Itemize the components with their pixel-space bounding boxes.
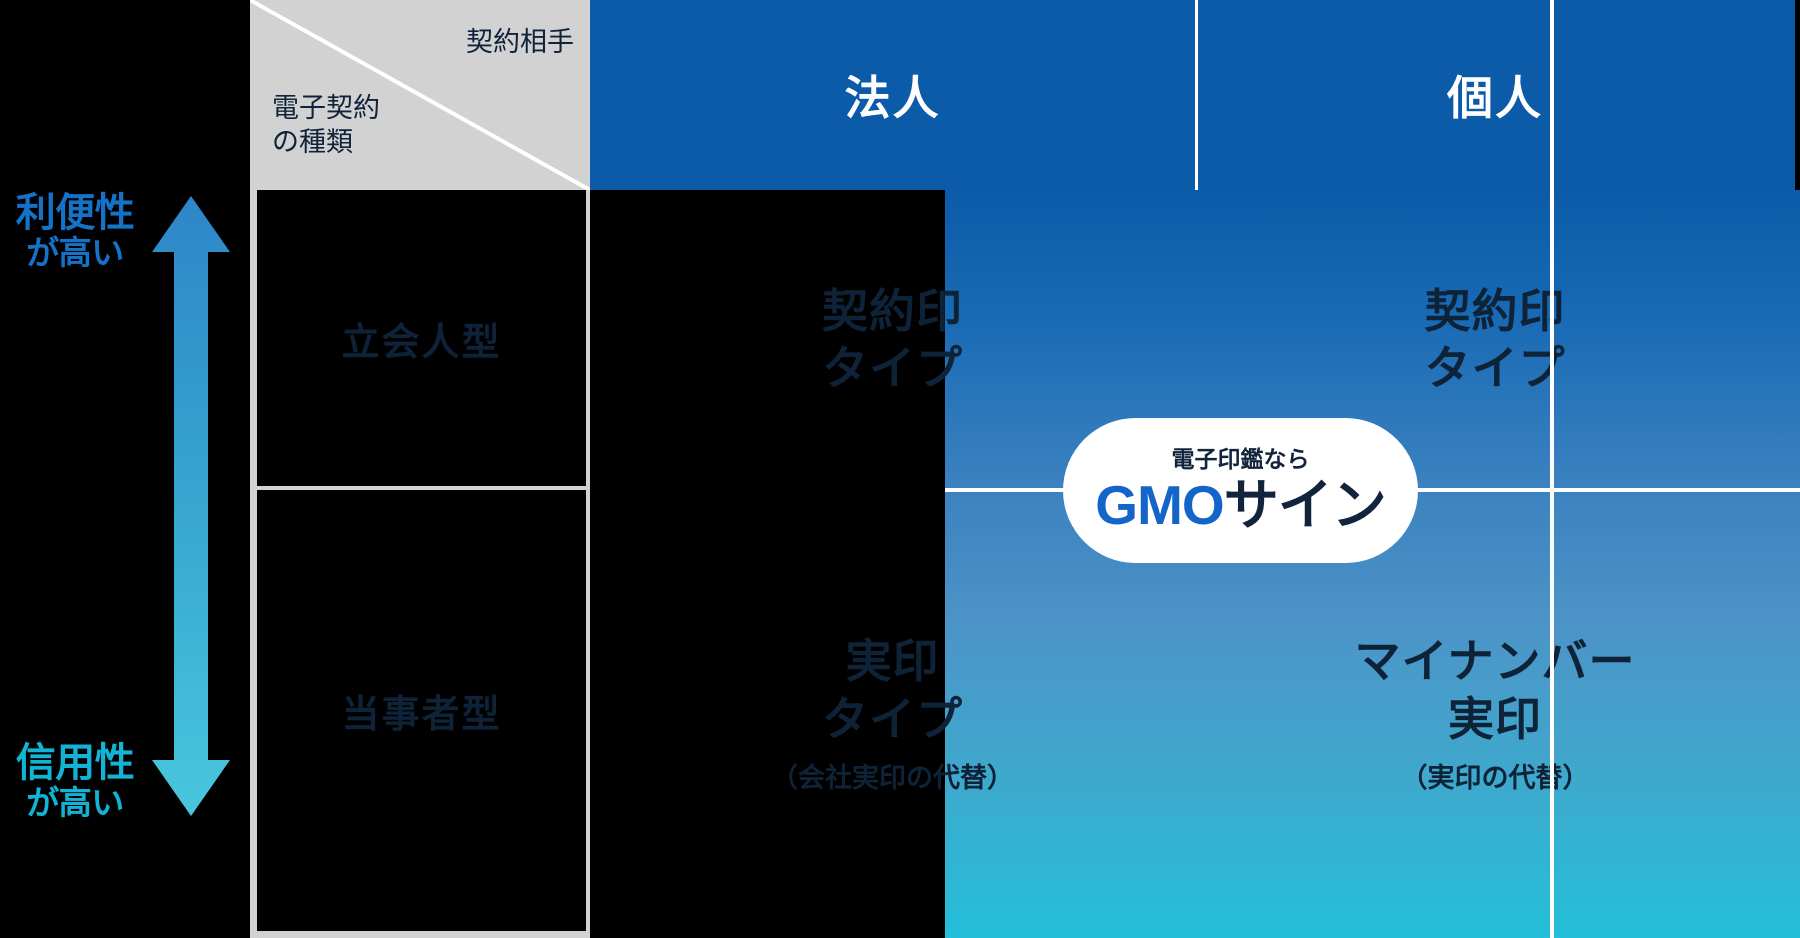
- column-header-individual: 個人: [1195, 0, 1795, 190]
- cell-corporate-witness-title-line2: タイプ: [822, 340, 963, 398]
- cell-corporate-party-title-line2: タイプ: [771, 691, 1014, 749]
- double-headed-vertical-arrow-icon: [152, 196, 230, 816]
- importance-axis: 利便性 が高い 信用性 が高い: [0, 0, 250, 938]
- axis-label-trust-line1: 信用性: [0, 742, 150, 785]
- cell-corporate-party-subtitle: （会社実印の代替）: [771, 756, 1014, 795]
- gmo-brand-mark: GMO: [1095, 478, 1223, 533]
- gmo-sign-logo-badge: 電子印鑑なら GMO サイン: [1063, 418, 1418, 563]
- column-header-corporate: 法人: [590, 0, 1195, 190]
- axis-label-convenience: 利便性 が高い: [0, 192, 150, 271]
- cell-individual-party-subtitle: （実印の代替）: [1354, 756, 1635, 795]
- matrix-corner-header: 契約相手 電子契約 の種類: [250, 0, 590, 190]
- row-header-witness-type-label: 立会人型: [341, 311, 501, 366]
- axis-label-trust-line2: が高い: [0, 785, 150, 821]
- cell-individual-witness-title-line1: 契約印: [1425, 283, 1566, 341]
- gmo-brand-name: サイン: [1224, 478, 1386, 533]
- corner-row-axis-label-line1: 電子契約: [272, 92, 380, 126]
- cell-corporate-witness-title-line1: 契約印: [822, 283, 963, 341]
- axis-label-convenience-line1: 利便性: [0, 192, 150, 235]
- corner-column-axis-label: 契約相手: [466, 26, 574, 60]
- cell-individual-party-title-line2: 実印: [1354, 691, 1635, 749]
- row-header-witness-type: 立会人型: [250, 190, 590, 490]
- cell-corporate-party: 実印 タイプ （会社実印の代替）: [590, 490, 1195, 938]
- gmo-tagline: 電子印鑑なら: [1172, 448, 1310, 471]
- gmo-wordmark: GMO サイン: [1095, 478, 1385, 533]
- corner-row-axis-label-line2: の種類: [272, 126, 380, 160]
- cell-individual-party-title-line1: マイナンバー: [1354, 633, 1635, 691]
- axis-label-trust: 信用性 が高い: [0, 742, 150, 821]
- column-divider: [1550, 0, 1554, 938]
- row-header-party-type-label: 当事者型: [341, 683, 501, 738]
- corner-row-axis-label: 電子契約 の種類: [272, 92, 380, 160]
- cell-corporate-party-title-line1: 実印: [771, 633, 1014, 691]
- row-header-party-type: 当事者型: [250, 490, 590, 938]
- axis-label-convenience-line2: が高い: [0, 235, 150, 271]
- cell-individual-witness-title-line2: タイプ: [1425, 340, 1566, 398]
- comparison-matrix: 契約相手 電子契約 の種類 法人 個人 立会人型 契約印 タイプ 契約印 タイプ…: [250, 0, 1795, 938]
